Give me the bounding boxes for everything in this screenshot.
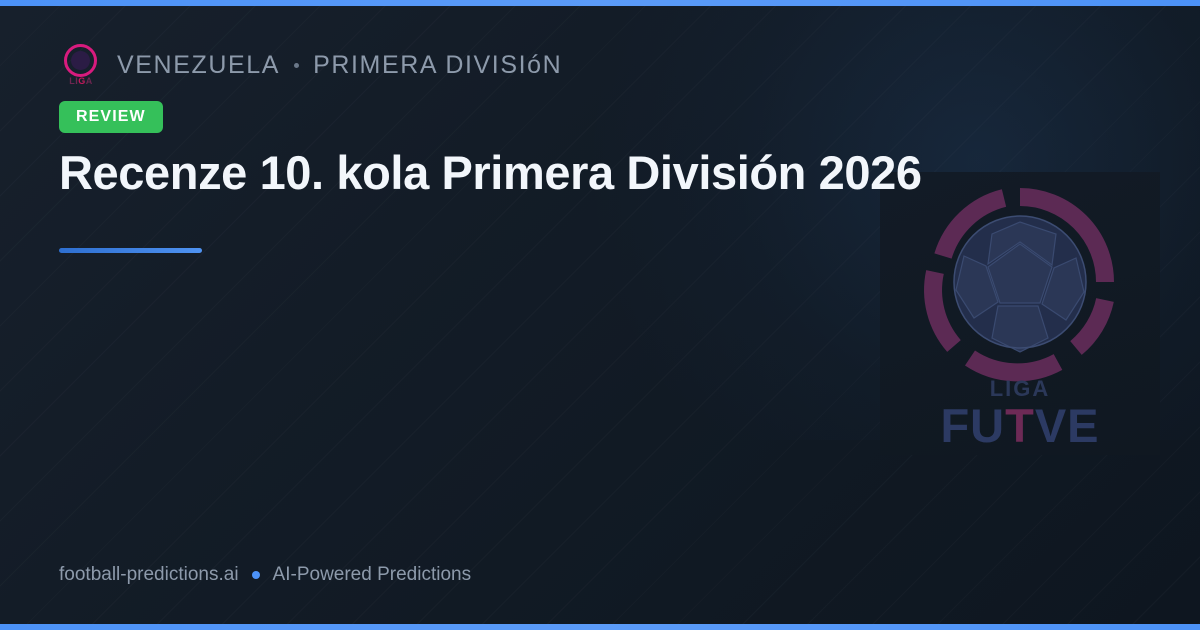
bullet-dot-icon (252, 571, 260, 579)
logo-word-futve-accent: T (1005, 399, 1035, 452)
breadcrumb-country: VENEZUELA (117, 51, 280, 80)
title-underline-accent (59, 248, 202, 253)
top-accent-bar (0, 0, 1200, 6)
league-logo-wordmark: LIGA FUTVE (880, 378, 1160, 449)
logo-word-futve-part1: FU (940, 399, 1005, 452)
logo-word-futve: FUTVE (880, 402, 1160, 449)
logo-word-liga: LIGA (880, 378, 1160, 400)
league-logo-panel: LIGA FUTVE (880, 172, 1160, 455)
footer-tagline: AI-Powered Predictions (273, 564, 472, 586)
liga-futve-logo-icon: LIGA (59, 42, 103, 88)
footer-site-name: football-predictions.ai (59, 564, 239, 586)
bottom-accent-bar (0, 624, 1200, 630)
status-badge: REVIEW (59, 101, 163, 133)
breadcrumb-competition: PRIMERA DIVISIóN (313, 51, 562, 80)
breadcrumb-separator-dot-icon (294, 63, 299, 68)
status-badge-label: REVIEW (76, 108, 146, 126)
logo-mini-wordmark: LIGA (61, 76, 101, 87)
logo-word-futve-part2: VE (1035, 399, 1100, 452)
logo-ball-shape (71, 51, 90, 70)
footer: football-predictions.ai AI-Powered Predi… (59, 564, 471, 586)
breadcrumb: LIGA VENEZUELA PRIMERA DIVISIóN (59, 42, 562, 88)
social-share-card: LIGA VENEZUELA PRIMERA DIVISIóN REVIEW R… (0, 0, 1200, 630)
page-title: Recenze 10. kola Primera División 2026 (59, 143, 1099, 203)
